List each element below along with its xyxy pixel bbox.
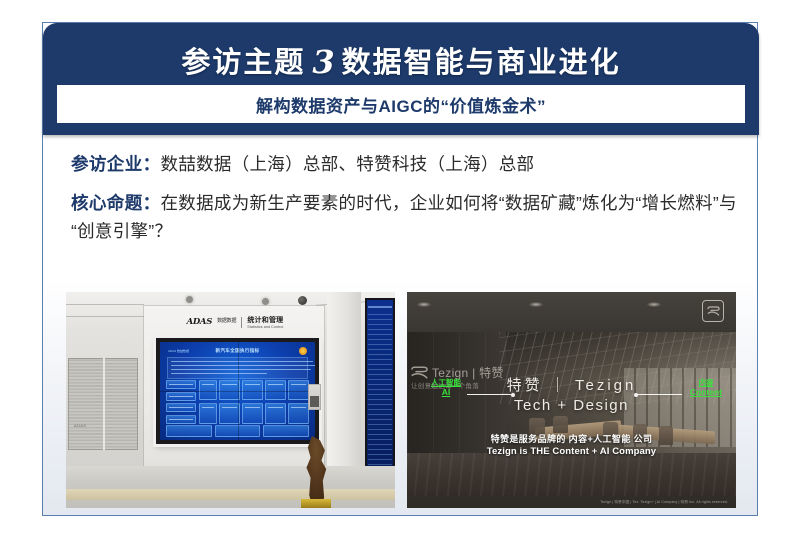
screen-logo: ADAS 数喆数据	[168, 349, 189, 353]
row-core-question: 核心命题：在数据成为新生产要素的时代，企业如何将“数据矿藏”炼化为“增长燃料”与…	[71, 190, 743, 245]
showroom-sign: ADAS 数据数据 统计和管理 Statistics and Control	[176, 314, 294, 330]
slogan-en: Tezign is THE Content + AI Company	[487, 446, 656, 457]
center-line-1: 特赞 ｜ Tezign	[507, 376, 637, 396]
body-text-block: 参访企业：数喆数据（上海）总部、特赞科技（上海）总部 核心命题：在数据成为新生产…	[71, 151, 743, 257]
ceiling-light	[262, 298, 269, 305]
video-wall-frame: ADAS 数喆数据 新汽车全国执行指标	[156, 338, 319, 444]
tezign-slogan: 特赞是服务品牌的 内容+人工智能 公司 Tezign is THE Conten…	[487, 432, 656, 457]
wall-pillar	[327, 292, 361, 474]
content-card: 参访主题3数据智能与商业进化 解构数据资产与AIGC的“价值炼金术” 参访企业：…	[42, 22, 758, 516]
photo-strip: ADAS 数据数据 统计和管理 Statistics and Control A…	[66, 292, 736, 508]
tezign-mark-icon	[702, 300, 724, 322]
ceiling-line	[66, 316, 152, 317]
slide-root: 参访主题3数据智能与商业进化 解构数据资产与AIGC的“价值炼金术” 参访企业：…	[0, 0, 800, 542]
header-banner: 参访主题3数据智能与商业进化 解构数据资产与AIGC的“价值炼金术”	[43, 23, 759, 135]
tag-content-cn: 内容	[690, 378, 722, 387]
sign-divider	[241, 317, 242, 328]
core-value: 在数据成为新生产要素的时代，企业如何将“数据矿藏”炼化为“增长燃料”与“创意引擎…	[71, 193, 737, 240]
office-chair	[553, 416, 568, 433]
secondary-screen	[365, 298, 395, 476]
title-prefix: 参访主题	[181, 47, 305, 79]
office-chair	[659, 426, 673, 445]
ceiling-spotlight	[529, 302, 543, 307]
ceiling-spotlight	[417, 302, 431, 307]
copyright-text: Tezign | 特赞中国 | Tez. Tezign+ | AI Compan…	[600, 500, 728, 505]
slogan-cn: 特赞是服务品牌的 内容+人工智能 公司	[487, 432, 656, 445]
security-camera-icon	[298, 296, 307, 305]
presentation-top-bar	[407, 292, 736, 332]
door-split	[103, 358, 105, 450]
ceiling-light	[186, 296, 193, 303]
row-company: 参访企业：数喆数据（上海）总部、特赞科技（上海）总部	[71, 151, 743, 178]
subtitle-bar: 解构数据资产与AIGC的“价值炼金术”	[57, 85, 745, 123]
company-value: 数喆数据（上海）总部、特赞科技（上海）总部	[161, 154, 535, 174]
tezign-logo-mark-icon	[411, 366, 428, 379]
company-label: 参访企业：	[71, 154, 161, 174]
video-wall-screen: ADAS 数喆数据 新汽车全国执行指标	[160, 342, 315, 440]
core-label: 核心命题：	[71, 193, 161, 213]
sign-right-sub: Statistics and Control	[247, 325, 283, 329]
connector-line-right	[636, 394, 682, 395]
tag-ai: 人工智能 AI	[431, 378, 461, 397]
photo-tezign-office: Tezign | 特赞 让创意触达每一个角落 人工智能 AI 特赞 ｜ Tezi…	[407, 292, 736, 508]
wall-control-panel	[308, 384, 321, 410]
title-number: 3	[305, 43, 341, 81]
tag-content: 内容 Content	[690, 378, 722, 397]
door-label: ADAS	[74, 423, 87, 428]
tag-ai-en: AI	[431, 387, 461, 397]
sign-right-main: 统计和管理	[247, 315, 283, 325]
subtitle-text: 解构数据资产与AIGC的“价值炼金术”	[256, 92, 546, 117]
screen-badge-icon	[299, 347, 307, 355]
louvered-door: ADAS	[68, 358, 138, 450]
tag-ai-cn: 人工智能	[431, 378, 461, 387]
sign-logo-text: ADAS	[187, 317, 213, 327]
floor	[66, 466, 395, 508]
floor-strip	[66, 489, 395, 500]
ceiling-spotlight	[647, 302, 661, 307]
tezign-center-text: 特赞 ｜ Tezign Tech + Design	[507, 376, 637, 417]
title-suffix: 数据智能与商业进化	[342, 47, 621, 79]
page-title: 参访主题3数据智能与商业进化	[43, 39, 759, 81]
ceiling-line	[66, 304, 144, 305]
screen-bezel-seam	[160, 391, 315, 392]
photo-shuzhe-showroom: ADAS 数据数据 统计和管理 Statistics and Control A…	[66, 292, 395, 508]
sign-right: 统计和管理 Statistics and Control	[247, 315, 283, 329]
sign-logo-cn: 数据数据	[217, 319, 236, 324]
eagle-sculpture-base	[301, 499, 331, 508]
office-floor	[407, 453, 736, 496]
tag-content-en: Content	[690, 387, 722, 397]
center-line-2: Tech + Design	[507, 396, 637, 416]
